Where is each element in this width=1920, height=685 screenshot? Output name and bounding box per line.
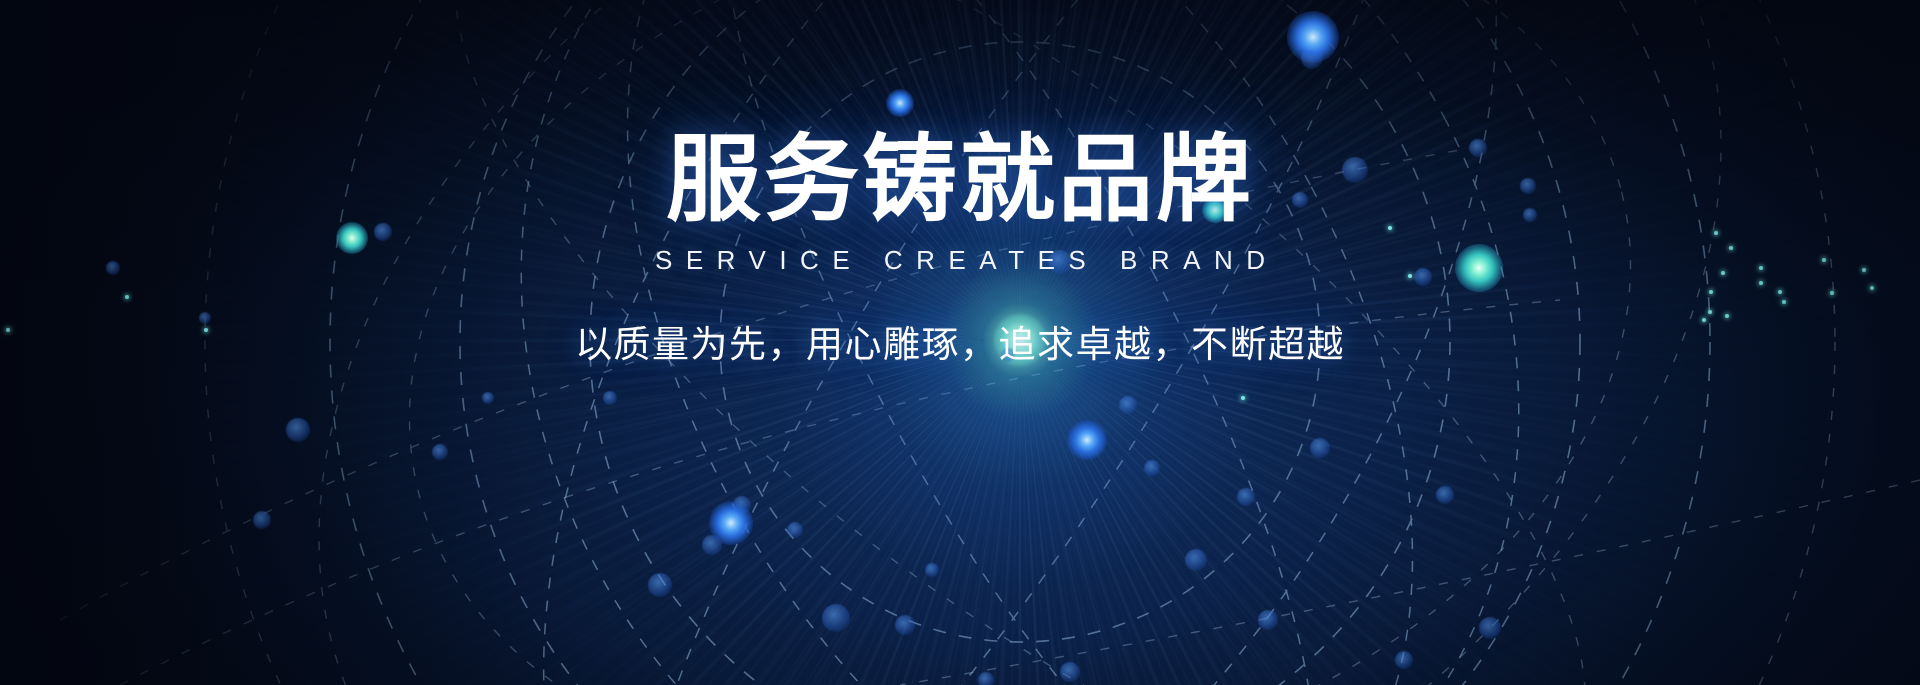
banner-content: 服务铸就品牌 SERVICE CREATES BRAND 以质量为先，用心雕琢，… (0, 0, 1920, 685)
banner-headline: 服务铸就品牌 (666, 133, 1254, 228)
hero-banner: 服务铸就品牌 SERVICE CREATES BRAND 以质量为先，用心雕琢，… (0, 0, 1920, 685)
banner-tagline: 以质量为先，用心雕琢，追求卓越，不断超越 (575, 326, 1345, 363)
banner-subline: SERVICE CREATES BRAND (641, 247, 1278, 273)
